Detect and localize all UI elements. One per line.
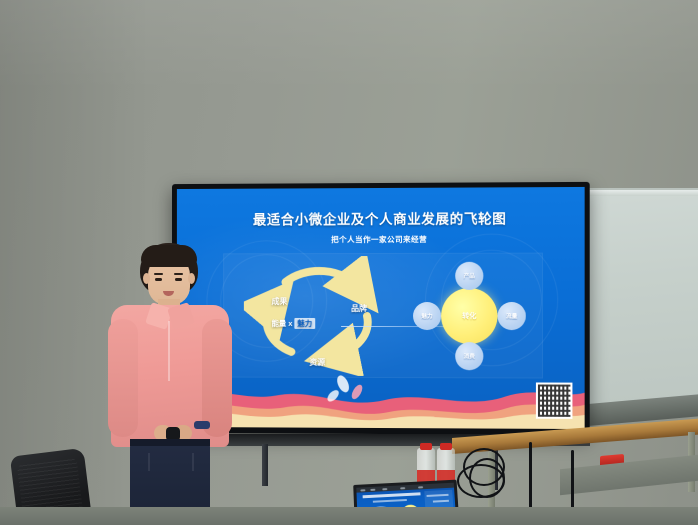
presenter-fringe xyxy=(141,245,197,267)
wrist-watch xyxy=(194,421,210,429)
wall-mounted-tv: 最适合小微企业及个人商业发展的飞轮图 把个人当作一家公司来经营 xyxy=(172,182,590,435)
qr-code[interactable] xyxy=(536,382,573,418)
toolbar-item xyxy=(418,486,423,488)
pants-seam xyxy=(192,453,194,471)
presenter-ear xyxy=(143,273,150,284)
presenter-eye xyxy=(155,278,162,281)
cluster-node-top: 产品 xyxy=(455,262,483,290)
side-panel-line xyxy=(433,500,449,503)
wall-highlight-top xyxy=(0,0,698,90)
slide-content-panel: 成果 品牌 资源 能量 x 魅力 转化 xyxy=(223,253,543,379)
cluster-node-bottom-label: 消费 xyxy=(464,352,475,360)
presenter-arm xyxy=(108,319,138,437)
formula-left-term: 能量 xyxy=(272,319,287,328)
presenter-belt xyxy=(130,439,210,446)
cluster-node-right: 流量 xyxy=(498,302,526,330)
slide-title: 最适合小微企业及个人商业发展的飞轮图 xyxy=(177,207,585,229)
conversion-cluster-diagram: 转化 产品 魅力 流量 消费 xyxy=(409,260,528,373)
slide-decorative-waves xyxy=(177,366,585,430)
cluster-node-left: 魅力 xyxy=(413,302,441,330)
formula-operator: x xyxy=(288,319,292,328)
presenter-eyebrow xyxy=(154,273,163,275)
tv-screen: 最适合小微企业及个人商业发展的飞轮图 把个人当作一家公司来经营 xyxy=(177,187,585,429)
qr-code-pattern xyxy=(538,385,570,417)
flywheel-arrows xyxy=(244,256,413,376)
flywheel-label-brand: 品牌 xyxy=(351,303,367,314)
cable-loop xyxy=(457,464,505,498)
presentation-room-photo: 最适合小微企业及个人商业发展的飞轮图 把个人当作一家公司来经营 xyxy=(0,0,698,525)
presenter xyxy=(108,243,232,525)
cluster-node-top-label: 产品 xyxy=(464,272,475,280)
flywheel-diagram: 成果 品牌 资源 能量 x 魅力 xyxy=(244,256,413,376)
laptop-slide-title xyxy=(363,492,421,498)
cluster-center-label: 转化 xyxy=(462,311,476,321)
toolbar-item xyxy=(400,487,405,489)
presentation-slide: 最适合小微企业及个人商业发展的飞轮图 把个人当作一家公司来经营 xyxy=(177,187,585,429)
toolbar-item xyxy=(370,488,375,490)
presenter-eye xyxy=(175,278,182,281)
shirt-placket xyxy=(168,321,170,381)
cluster-center-node: 转化 xyxy=(441,288,497,344)
presenter-ear xyxy=(188,273,195,284)
side-panel-line xyxy=(427,494,449,497)
toolbar-item xyxy=(382,488,387,490)
pants-seam xyxy=(148,453,150,471)
presenter-arm xyxy=(202,319,232,437)
slide-subtitle: 把个人当作一家公司来经营 xyxy=(177,233,585,245)
presenter-eyebrow xyxy=(174,273,183,275)
flywheel-center-formula: 能量 x 魅力 xyxy=(272,318,315,329)
toolbar-item xyxy=(360,489,365,491)
flywheel-label-result: 成果 xyxy=(272,296,288,307)
formula-right-term: 魅力 xyxy=(294,318,315,329)
cluster-node-right-label: 流量 xyxy=(506,312,517,320)
laptop-slide-subtitle xyxy=(373,499,407,503)
bottle-cap xyxy=(420,443,432,450)
whiteboard xyxy=(586,188,698,412)
tv-stand-leg xyxy=(262,444,268,486)
bottle-cap xyxy=(440,443,452,450)
floor xyxy=(0,507,698,525)
cluster-node-left-label: 魅力 xyxy=(421,312,432,320)
